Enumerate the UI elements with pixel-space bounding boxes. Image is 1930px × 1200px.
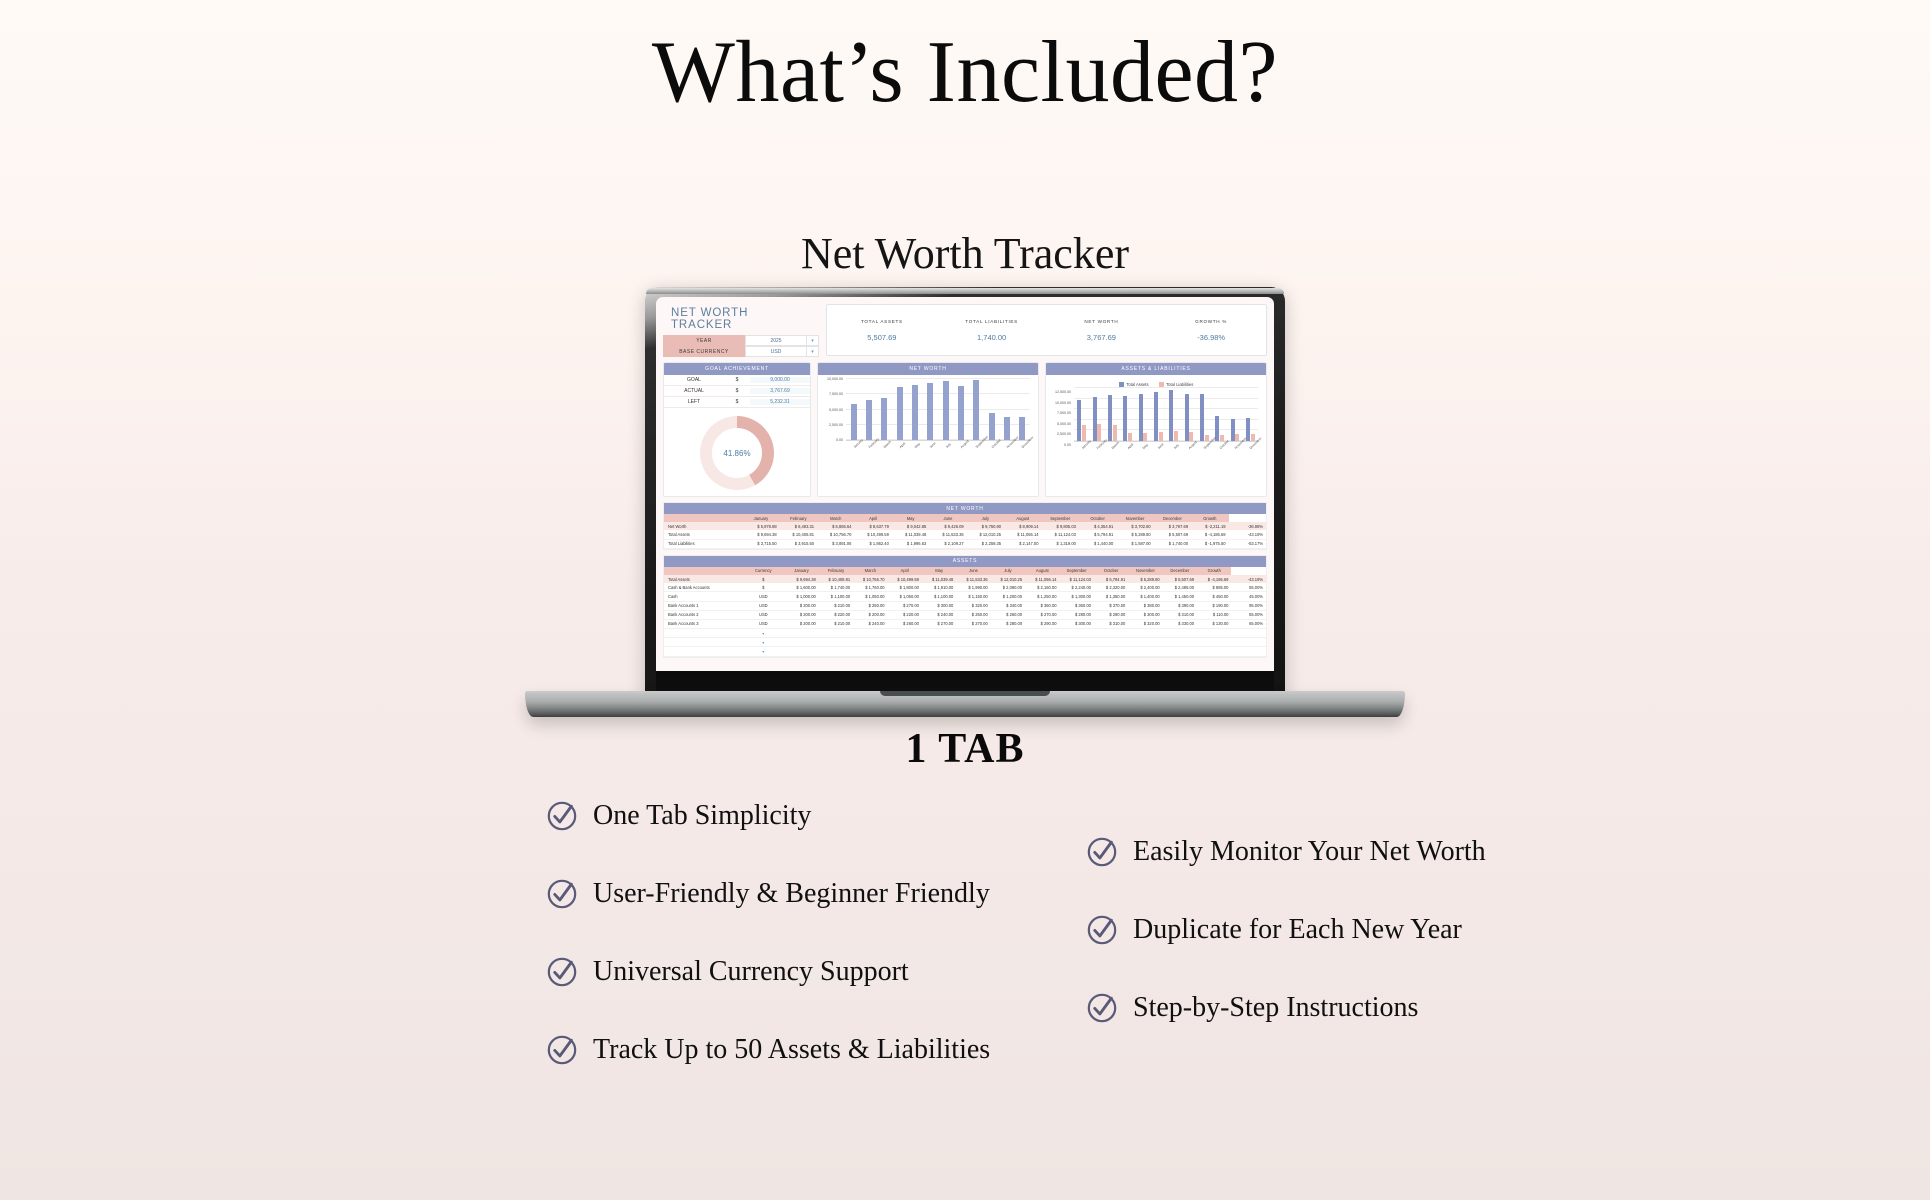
x-axis-tick: March: [883, 442, 890, 449]
table-cell: $ 1,910.00: [922, 583, 956, 592]
column-header: May: [892, 514, 929, 522]
x-axis-tick: September: [1203, 443, 1210, 450]
table-row: Bank Accounts 3USD$ 200.00$ 210.00$ 240.…: [664, 619, 1266, 628]
row-label: Total Assets: [664, 575, 742, 583]
check-circle-icon: [545, 877, 579, 911]
assets-liabilities-chart-panel: ASSETS & LIABILITIES Total AssetsTotal L…: [1045, 362, 1267, 497]
feature-label: Easily Monitor Your Net Worth: [1133, 836, 1486, 868]
x-axis-tick: December: [1021, 442, 1028, 449]
x-axis-tick: April: [898, 442, 905, 449]
table-cell[interactable]: [922, 647, 956, 656]
goal-row-amount: 5,232.31: [750, 399, 810, 405]
table-cell: $ 330.00: [1163, 619, 1197, 628]
feature-label: Duplicate for Each New Year: [1133, 914, 1462, 946]
net-worth-chart: 0.002,500.005,000.007,500.0010,000.00 Ja…: [818, 375, 1038, 467]
table-cell[interactable]: [1094, 647, 1128, 656]
bar: [1174, 431, 1178, 441]
y-axis-tick: 10,000.00: [827, 377, 843, 381]
feature-item: Easily Monitor Your Net Worth: [1085, 835, 1486, 869]
bar: [1093, 397, 1097, 441]
table-cell: $ 370.00: [1094, 601, 1128, 610]
bar: [958, 386, 964, 440]
table-cell: $ 2,485.00: [1163, 583, 1197, 592]
kpi-total-assets-label: TOTAL ASSETS: [861, 319, 903, 324]
currency-cell[interactable]: USD: [742, 592, 784, 601]
table-cell: $ 300.00: [1060, 619, 1094, 628]
kpi-total-liabilities-label: TOTAL LIABILITIES: [965, 319, 1018, 324]
y-axis-tick: 10,000.00: [1055, 401, 1071, 405]
table-cell: $ 11,533.36: [956, 575, 990, 583]
table-cell: $ 10,756.70: [853, 575, 887, 583]
net-worth-x-axis-labels: JanuaryFebruaryMarchAprilMayJuneJulyAugu…: [846, 442, 1030, 446]
table-cell: $ 280.00: [1060, 610, 1094, 619]
assets-table-header-row: CurrencyJanuaryFebruaryMarchAprilMayJune…: [664, 567, 1266, 575]
goal-row: LEFT $ 5,232.31: [664, 397, 810, 408]
table-cell[interactable]: [888, 629, 922, 638]
check-circle-icon: [545, 1033, 579, 1067]
table-cell: $ 200.00: [784, 619, 818, 628]
net-worth-table: JanuaryFebruaryMarchAprilMayJuneJulyAugu…: [664, 514, 1266, 549]
table-cell: $ 8,909.14: [1004, 522, 1041, 530]
bar: [1220, 435, 1224, 441]
table-cell: $ 11,124.03: [1060, 575, 1094, 583]
year-parameter-row: YEAR 2025 ▾: [663, 335, 819, 346]
x-axis-tick: June: [1157, 443, 1164, 450]
table-cell[interactable]: [819, 647, 853, 656]
year-dropdown-caret-icon[interactable]: ▾: [807, 335, 819, 346]
column-header: Currency: [742, 567, 784, 575]
table-cell: $ 1,400.00: [1128, 592, 1162, 601]
empty-table-row[interactable]: ▾: [664, 647, 1266, 656]
table-cell: $ 240.00: [853, 619, 887, 628]
x-axis-tick: April: [1126, 443, 1133, 450]
bar: [1004, 417, 1010, 440]
x-axis-tick: August: [1188, 443, 1195, 450]
table-cell: $ 3,702.80: [1116, 522, 1153, 530]
table-cell[interactable]: [956, 638, 990, 647]
bar: [973, 380, 979, 440]
column-header: April: [854, 514, 891, 522]
bar: [912, 385, 918, 440]
check-circle-icon: [1085, 913, 1119, 947]
table-cell: $ 1,350.00: [1094, 592, 1128, 601]
bar: [1251, 434, 1255, 441]
row-label: Total Liabilities: [664, 539, 742, 548]
table-cell: $ 2,147.00: [1004, 539, 1041, 548]
table-cell: $ 200.00: [784, 610, 818, 619]
donut-percent-label: 41.86%: [723, 449, 750, 458]
table-cell: $ 11,056.14: [1025, 575, 1059, 583]
table-cell[interactable]: [922, 629, 956, 638]
goal-row-label: GOAL: [664, 377, 724, 383]
row-label: Cash & Bank Accounts: [664, 583, 742, 592]
bar: [1189, 432, 1193, 441]
table-cell: $ 270.00: [888, 601, 922, 610]
column-header: June: [956, 567, 990, 575]
check-circle-icon: [545, 955, 579, 989]
table-cell: $ 10,408.81: [780, 530, 817, 539]
assets-liabilities-chart-heading: ASSETS & LIABILITIES: [1046, 363, 1266, 375]
table-cell[interactable]: [922, 638, 956, 647]
table-cell: $ 9,694.38: [784, 575, 818, 583]
kpi-total-assets-value: 5,507.69: [867, 333, 896, 342]
kpi-total-liabilities: TOTAL LIABILITIES 1,740.00: [937, 305, 1047, 355]
x-axis-tick: January: [852, 442, 859, 449]
goal-row-label: ACTUAL: [664, 388, 724, 394]
table-cell[interactable]: [1128, 629, 1162, 638]
sheet-header-left: NET WORTH TRACKER YEAR 2025 ▾ BASE CURRE…: [663, 302, 819, 357]
table-row: CashUSD$ 1,000.00$ 1,100.00$ 1,050.00$ 1…: [664, 592, 1266, 601]
table-cell: $ 5,978.88: [742, 522, 779, 530]
table-cell[interactable]: [1163, 629, 1197, 638]
table-cell: $ 1,600.00: [784, 583, 818, 592]
laptop-base: [525, 691, 1405, 717]
table-cell: $ 1,050.00: [853, 592, 887, 601]
table-cell: $ 11,056.14: [1004, 530, 1041, 539]
column-header: June: [929, 514, 966, 522]
column-header: January: [742, 514, 779, 522]
table-cell: $ 240.00: [922, 610, 956, 619]
table-cell: $ 11,124.03: [1042, 530, 1079, 539]
column-header: February: [780, 514, 817, 522]
bar: [1097, 424, 1101, 441]
currency-cell[interactable]: USD: [742, 619, 784, 628]
goal-row-amount: 3,767.69: [750, 388, 810, 394]
table-cell: $ 2,109.27: [929, 539, 966, 548]
x-axis-tick: May: [914, 442, 921, 449]
table-cell: $ 5,794.91: [1094, 575, 1128, 583]
table-cell[interactable]: [1197, 629, 1231, 638]
table-cell[interactable]: [784, 629, 818, 638]
table-cell: $ 11,039.48: [922, 575, 956, 583]
table-cell[interactable]: [853, 638, 887, 647]
goal-row-currency: $: [724, 377, 750, 383]
x-axis-tick: December: [1249, 443, 1256, 450]
empty-table-row[interactable]: ▾: [664, 629, 1266, 638]
product-title: Net Worth Tracker: [0, 228, 1930, 279]
assets-table-heading: ASSETS: [664, 556, 1266, 567]
table-cell[interactable]: [853, 647, 887, 656]
x-axis-tick: October: [990, 442, 997, 449]
table-cell: $ 885.00: [1197, 583, 1231, 592]
column-header: August: [1025, 567, 1059, 575]
table-cell[interactable]: [888, 647, 922, 656]
table-cell: $ 1,440.00: [1079, 539, 1116, 548]
growth-cell: 55.00%: [1231, 610, 1266, 619]
net-worth-chart-heading: NET WORTH: [818, 363, 1038, 375]
goal-row-label: LEFT: [664, 399, 724, 405]
goal-row-currency: $: [724, 388, 750, 394]
bar: [1154, 392, 1158, 441]
table-cell: $ 2,160.00: [1025, 583, 1059, 592]
bar-group: [1074, 388, 1258, 441]
table-cell[interactable]: [1025, 629, 1059, 638]
table-cell[interactable]: [991, 638, 1025, 647]
table-cell[interactable]: [991, 629, 1025, 638]
table-cell: $ 220.00: [888, 610, 922, 619]
table-cell[interactable]: [664, 629, 742, 638]
column-header: July: [991, 567, 1025, 575]
goal-panel-heading: GOAL ACHIEVEMENT: [664, 363, 810, 375]
growth-cell: -43.19%: [1229, 530, 1266, 539]
row-label: Bank Accounts 1: [664, 601, 742, 610]
y-axis-tick: 12,500.00: [1055, 390, 1071, 394]
table-cell: $ 10,756.70: [817, 530, 854, 539]
table-cell: $ 110.00: [1197, 610, 1231, 619]
table-cell: $ 5,507.69: [1163, 575, 1197, 583]
x-axis-tick: June: [929, 442, 936, 449]
feature-item: Universal Currency Support: [545, 955, 990, 989]
net-worth-chart-panel: NET WORTH 0.002,500.005,000.007,500.0010…: [817, 362, 1039, 497]
goal-donut-chart: 41.86%: [664, 408, 810, 496]
table-row: Total Assets$ 9,694.38$ 10,408.81$ 10,75…: [664, 530, 1266, 539]
table-cell[interactable]: [664, 647, 742, 656]
table-cell[interactable]: [1094, 638, 1128, 647]
currency-dropdown-caret-icon[interactable]: ▾: [742, 647, 784, 656]
goal-rows: GOAL $ 9,000.00 ACTUAL $ 3,767.69: [664, 375, 810, 408]
table-cell: $ 3,915.50: [780, 539, 817, 548]
y-axis-tick: 0.00: [1064, 443, 1071, 447]
bar: [1113, 425, 1117, 441]
table-cell: $ 4,354.91: [1079, 522, 1116, 530]
year-value[interactable]: 2025: [745, 335, 807, 346]
table-cell[interactable]: [1197, 647, 1231, 656]
table-cell: $ 280.00: [991, 619, 1025, 628]
currency-dropdown-caret-icon[interactable]: ▾: [807, 346, 819, 357]
column-header: April: [888, 567, 922, 575]
net-worth-table-heading: NET WORTH: [664, 503, 1266, 514]
feature-label: Track Up to 50 Assets & Liabilities: [593, 1034, 990, 1066]
table-cell: $ 290.00: [1025, 619, 1059, 628]
row-label: Total Assets: [664, 530, 742, 539]
bar: [1231, 419, 1235, 441]
x-axis-tick: November: [1234, 443, 1241, 450]
table-cell[interactable]: [1197, 638, 1231, 647]
kpi-net-worth-label: NET WORTH: [1084, 319, 1118, 324]
empty-table-row[interactable]: ▾: [664, 638, 1266, 647]
bar: [1246, 418, 1250, 441]
kpi-summary-box: TOTAL ASSETS 5,507.69 TOTAL LIABILITIES …: [826, 304, 1267, 356]
bar: [1169, 390, 1173, 441]
assets-table: CurrencyJanuaryFebruaryMarchAprilMayJune…: [664, 567, 1266, 657]
sheet-header: NET WORTH TRACKER YEAR 2025 ▾ BASE CURRE…: [663, 302, 1267, 357]
table-cell: $ 310.00: [1163, 610, 1197, 619]
table-cell[interactable]: [1163, 638, 1197, 647]
x-axis-tick: March: [1111, 443, 1118, 450]
table-cell: $ 11,039.48: [892, 530, 929, 539]
bar: [1123, 396, 1127, 441]
bar: [851, 404, 857, 440]
table-cell[interactable]: [1163, 647, 1197, 656]
column-header: Growth: [1191, 514, 1228, 522]
table-cell: $ 6,493.31: [780, 522, 817, 530]
table-cell: $ 1,587.00: [1116, 539, 1153, 548]
x-axis-tick: February: [1096, 443, 1103, 450]
currency-dropdown-caret-icon[interactable]: ▾: [742, 638, 784, 647]
column-header: December: [1154, 514, 1191, 522]
kpi-growth-value: -36.98%: [1197, 333, 1225, 342]
table-cell: $ 1,996.63: [892, 539, 929, 548]
bar: [1200, 394, 1204, 441]
growth-cell: 45.00%: [1231, 592, 1266, 601]
table-cell[interactable]: [819, 638, 853, 647]
table-cell: $ 5,507.69: [1154, 530, 1191, 539]
growth-cell: 55.00%: [1231, 583, 1266, 592]
table-cell: $ 390.00: [1163, 601, 1197, 610]
table-cell: $ 250.00: [853, 601, 887, 610]
table-cell: $ 9,750.90: [967, 522, 1004, 530]
column-header: March: [817, 514, 854, 522]
bar: [1019, 417, 1025, 440]
table-cell: $ 210.00: [819, 601, 853, 610]
bar: [897, 387, 903, 440]
goal-row-amount[interactable]: 9,000.00: [750, 377, 810, 383]
table-cell[interactable]: [1094, 629, 1128, 638]
currency-dropdown-caret-icon[interactable]: ▾: [742, 629, 784, 638]
table-cell[interactable]: [819, 629, 853, 638]
table-cell: $ 300.00: [1128, 610, 1162, 619]
table-cell[interactable]: [1060, 647, 1094, 656]
laptop-lid: NET WORTH TRACKER YEAR 2025 ▾ BASE CURRE…: [645, 287, 1285, 695]
table-cell[interactable]: [888, 638, 922, 647]
bar: [1082, 425, 1086, 441]
table-cell: $ 1,250.00: [1025, 592, 1059, 601]
check-circle-icon: [545, 799, 579, 833]
growth-cell: 95.00%: [1231, 601, 1266, 610]
table-cell: $ 10,499.59: [888, 575, 922, 583]
table-cell[interactable]: [784, 647, 818, 656]
feature-label: User-Friendly & Beginner Friendly: [593, 878, 990, 910]
table-cell: $ 220.00: [819, 610, 853, 619]
laptop-mockup: NET WORTH TRACKER YEAR 2025 ▾ BASE CURRE…: [0, 287, 1930, 707]
assets-table-body: Total Assets$$ 9,694.38$ 10,408.81$ 10,7…: [664, 575, 1266, 656]
table-cell: $ 9,694.38: [742, 530, 779, 539]
table-cell: $ 9,042.85: [892, 522, 929, 530]
table-cell[interactable]: [1025, 647, 1059, 656]
table-cell[interactable]: [1128, 647, 1162, 656]
table-cell: $ 310.00: [1094, 619, 1128, 628]
bar: [1108, 395, 1112, 441]
column-header: October: [1079, 514, 1116, 522]
spreadsheet: NET WORTH TRACKER YEAR 2025 ▾ BASE CURRE…: [656, 297, 1274, 673]
x-axis-tick: July: [1172, 443, 1179, 450]
feature-label: One Tab Simplicity: [593, 800, 811, 832]
table-cell[interactable]: [1060, 629, 1094, 638]
table-cell: $ 1,760.00: [853, 583, 887, 592]
table-cell: $ 9,426.09: [929, 522, 966, 530]
kpi-growth: GROWTH % -36.98%: [1156, 305, 1266, 355]
bar-cluster: [1077, 388, 1086, 441]
features-left-column: One Tab SimplicityUser-Friendly & Beginn…: [545, 799, 990, 1067]
assets-liabilities-plot: 0.002,500.005,000.007,500.0010,000.0012,…: [1074, 388, 1258, 442]
feature-item: Track Up to 50 Assets & Liabilities: [545, 1033, 990, 1067]
goal-achievement-panel: GOAL ACHIEVEMENT GOAL $ 9,000.00 ACTUAL …: [663, 362, 811, 497]
currency-cell[interactable]: USD: [742, 610, 784, 619]
currency-cell: $: [742, 583, 784, 592]
bar: [1143, 433, 1147, 441]
y-axis-tick: 0.00: [836, 438, 843, 442]
table-cell: $ 5,794.91: [1079, 530, 1116, 539]
y-axis-tick: 7,500.00: [1057, 411, 1071, 415]
growth-cell: -43.19%: [1231, 575, 1266, 583]
table-cell[interactable]: [1128, 638, 1162, 647]
tab-count: 1 TAB: [0, 725, 1930, 773]
bar: [1185, 394, 1189, 441]
table-cell: $ -4,186.69: [1197, 575, 1231, 583]
table-cell: $ 1,319.00: [1042, 539, 1079, 548]
x-axis-tick: September: [975, 442, 982, 449]
row-label: Cash: [664, 592, 742, 601]
bar-cluster: [1108, 388, 1117, 441]
table-cell: $ 1,100.00: [819, 592, 853, 601]
bar: [1235, 434, 1239, 441]
table-cell[interactable]: [1060, 638, 1094, 647]
currency-cell[interactable]: USD: [742, 601, 784, 610]
table-cell: $ 1,450.00: [1163, 592, 1197, 601]
table-cell: $ 9,805.03: [1042, 522, 1079, 530]
table-cell: $ 260.00: [991, 610, 1025, 619]
table-cell[interactable]: [956, 647, 990, 656]
table-cell[interactable]: [991, 647, 1025, 656]
table-cell: $ 5,289.80: [1128, 575, 1162, 583]
column-header: September: [1042, 514, 1079, 522]
bar-cluster: [1169, 388, 1178, 441]
feature-item: Duplicate for Each New Year: [1085, 913, 1486, 947]
bar-cluster: [1123, 388, 1132, 441]
table-cell: $ 210.00: [819, 619, 853, 628]
table-cell: $ 380.00: [1128, 601, 1162, 610]
table-cell: $ 3,715.50: [742, 539, 779, 548]
base-currency-label: BASE CURRENCY: [663, 346, 745, 357]
table-cell: $ 1,990.00: [956, 583, 990, 592]
net-worth-table-block: NET WORTH JanuaryFebruaryMarchAprilMayJu…: [663, 502, 1267, 550]
x-axis-tick: November: [1006, 442, 1013, 449]
table-cell[interactable]: [784, 638, 818, 647]
table-cell: $ 1,800.00: [888, 583, 922, 592]
features-right-column: Easily Monitor Your Net WorthDuplicate f…: [1085, 835, 1486, 1025]
table-cell: $ 2,320.00: [1094, 583, 1128, 592]
table-row: Total Assets$$ 9,694.38$ 10,408.81$ 10,7…: [664, 575, 1266, 583]
table-cell: $ 10,408.81: [819, 575, 853, 583]
table-cell[interactable]: [853, 629, 887, 638]
x-axis-tick: February: [868, 442, 875, 449]
bar: [989, 413, 995, 440]
feature-item: User-Friendly & Beginner Friendly: [545, 877, 990, 911]
table-cell[interactable]: [956, 629, 990, 638]
kpi-net-worth: NET WORTH 3,767.69: [1047, 305, 1157, 355]
assets-table-block: ASSETS CurrencyJanuaryFebruaryMarchApril…: [663, 555, 1267, 658]
table-cell: $ 8,637.79: [854, 522, 891, 530]
bar: [943, 381, 949, 440]
table-cell[interactable]: [1025, 638, 1059, 647]
table-cell: $ -2,211.19: [1191, 522, 1228, 530]
bar-cluster: [1154, 388, 1163, 441]
table-cell: $ 1,862.40: [854, 539, 891, 548]
column-header: Growth: [1197, 567, 1231, 575]
table-cell: $ 260.00: [888, 619, 922, 628]
base-currency-value[interactable]: USD: [745, 346, 807, 357]
bar: [1077, 400, 1081, 441]
table-cell: $ 1,000.00: [784, 592, 818, 601]
column-header: November: [1116, 514, 1153, 522]
table-cell[interactable]: [664, 638, 742, 647]
table-cell: $ 3,767.69: [1154, 522, 1191, 530]
bar: [927, 383, 933, 440]
bar: [866, 400, 872, 440]
assets-liabilities-chart: Total AssetsTotal Liabilities 0.002,500.…: [1046, 375, 1266, 467]
check-circle-icon: [1085, 835, 1119, 869]
table-cell: $ 200.00: [853, 610, 887, 619]
